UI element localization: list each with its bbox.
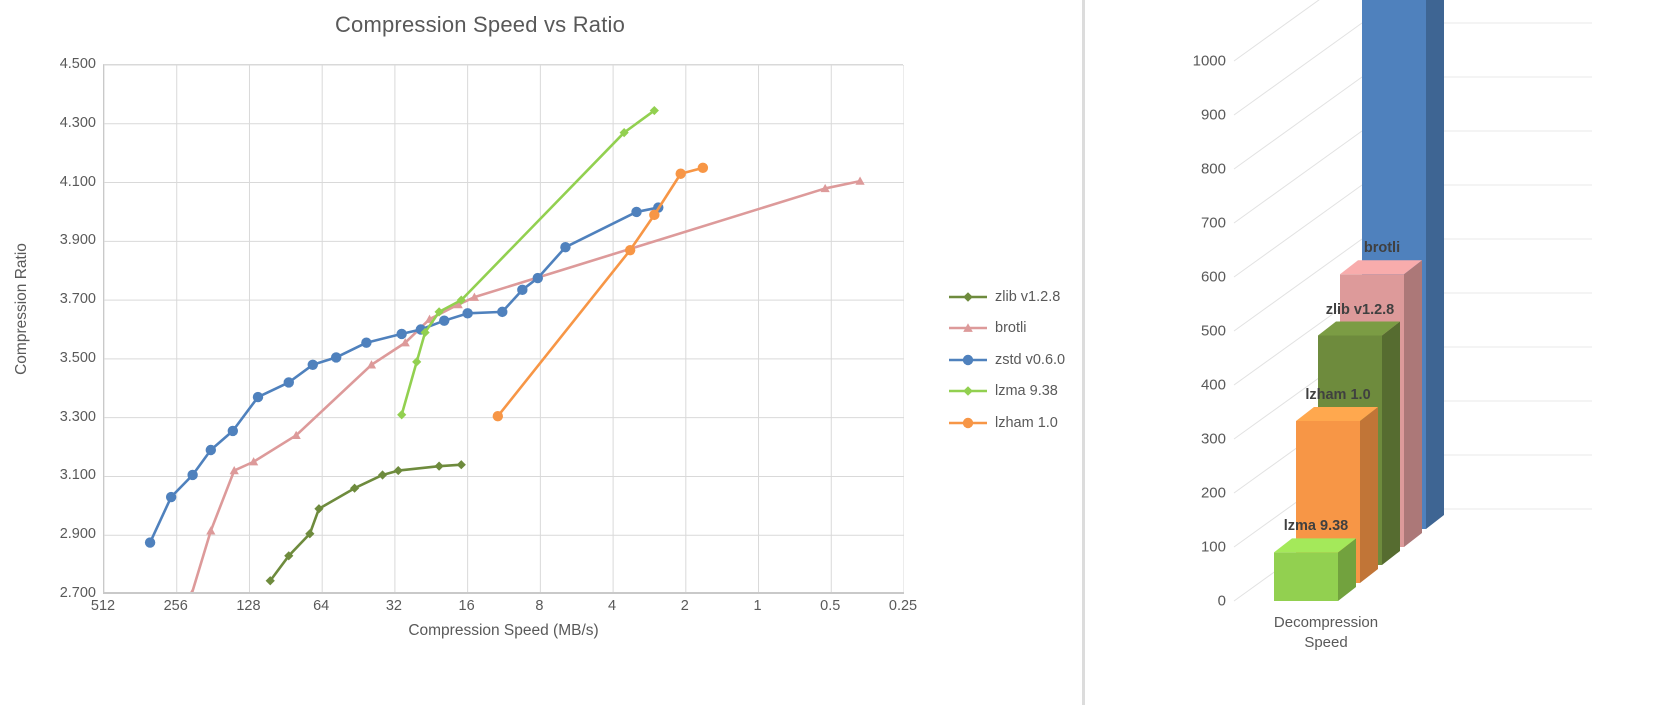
legend-item-lzham-1-0[interactable]: lzham 1.0 [948, 407, 1078, 439]
bar-y-axis-tick: 1000 [1156, 53, 1226, 70]
data-point-marker [675, 169, 685, 179]
data-point-marker [631, 207, 641, 217]
legend-marker-icon [948, 289, 988, 305]
series-zlib-v1-2-8 [266, 460, 466, 585]
bar-front-face [1274, 552, 1338, 601]
x-axis-tick: 16 [432, 598, 502, 614]
y-axis-tick: 4.300 [16, 115, 96, 131]
bar-y-axis-tick: 300 [1156, 431, 1226, 448]
data-point-marker [166, 492, 176, 502]
bar-data-label: zlib v1.2.8 [1326, 302, 1395, 318]
data-point-marker [145, 537, 155, 547]
x-axis-tick: 32 [359, 598, 429, 614]
panel-divider [1082, 0, 1085, 705]
bar-side-face [1426, 0, 1444, 529]
data-point-marker [963, 292, 973, 302]
chart-legend: zlib v1.2.8brotlizstd v0.6.0lzma 9.38lzh… [948, 281, 1078, 439]
data-point-marker [378, 470, 387, 479]
y-axis-tick: 3.100 [16, 467, 96, 483]
x-axis-tick: 256 [141, 598, 211, 614]
bar-y-axis-tick: 800 [1156, 161, 1226, 178]
x-axis-tick: 1 [723, 598, 793, 614]
gridline-depth [1234, 77, 1362, 169]
data-point-marker [439, 315, 449, 325]
data-point-marker [698, 163, 708, 173]
data-point-marker [206, 526, 215, 534]
bar-y-axis-tick: 200 [1156, 485, 1226, 502]
data-point-marker [560, 242, 570, 252]
gridline-depth [1234, 0, 1362, 61]
bar-y-axis-tick: 100 [1156, 539, 1226, 556]
bar-data-label: brotli [1364, 240, 1400, 256]
y-axis-title: Compression Ratio [13, 179, 31, 439]
series-line [402, 111, 655, 415]
data-point-marker [206, 445, 216, 455]
legend-item-lzma-9-38[interactable]: lzma 9.38 [948, 376, 1078, 408]
legend-marker-icon [948, 352, 988, 368]
y-axis-tick: 4.500 [16, 56, 96, 72]
bar-y-axis-tick: 600 [1156, 269, 1226, 286]
bar-side-face [1404, 260, 1422, 547]
data-point-marker [533, 273, 543, 283]
legend-item-zlib-v1-2-8[interactable]: zlib v1.2.8 [948, 281, 1078, 313]
bar-category-line: Decompression [1236, 613, 1416, 633]
bar-side-face [1360, 407, 1378, 583]
decompression-speed-bar-chart: DecompressionSpeed zstd v0.6.0brotlizlib… [1086, 0, 1670, 705]
x-axis-line [103, 592, 904, 594]
page-title: Compression Speed vs Ratio [0, 12, 960, 38]
data-point-marker [649, 210, 659, 220]
x-axis-tick: 512 [68, 598, 138, 614]
data-point-marker [457, 460, 466, 469]
data-point-marker [308, 360, 318, 370]
x-axis-title: Compression Speed (MB/s) [103, 622, 904, 640]
data-point-marker [435, 462, 444, 471]
x-axis-tick: 128 [213, 598, 283, 614]
legend-item-label: lzma 9.38 [995, 383, 1058, 399]
bar-category-line: Speed [1236, 633, 1416, 653]
plot-area [103, 64, 903, 593]
series-line [270, 465, 461, 581]
x-axis-tick-labels: 51225612864321684210.50.25 [0, 598, 1000, 624]
data-point-marker [493, 411, 503, 421]
bar-y-axis-tick: 400 [1156, 377, 1226, 394]
gridline-depth [1234, 185, 1362, 277]
data-point-marker [361, 338, 371, 348]
bar-data-label: lzma 9.38 [1284, 518, 1349, 534]
y-axis-tick: 2.900 [16, 526, 96, 542]
compression-scatter-chart: Compression Speed vs Ratio 4.5004.3004.1… [0, 0, 1082, 705]
data-point-marker [396, 329, 406, 339]
bar-category-label: DecompressionSpeed [1236, 613, 1416, 654]
data-point-marker [331, 352, 341, 362]
data-point-marker [187, 470, 197, 480]
data-point-marker [228, 426, 238, 436]
data-point-marker [284, 377, 294, 387]
x-axis-tick: 64 [286, 598, 356, 614]
data-point-marker [517, 285, 527, 295]
legend-marker-icon [948, 383, 988, 399]
x-axis-tick: 2 [650, 598, 720, 614]
x-axis-tick: 0.5 [795, 598, 865, 614]
data-point-marker [253, 392, 263, 402]
legend-marker-icon [948, 415, 988, 431]
bar-y-axis-tick: 500 [1156, 323, 1226, 340]
data-point-marker [963, 355, 973, 365]
data-point-marker [497, 307, 507, 317]
bar-y-axis-tick: 900 [1156, 107, 1226, 124]
data-point-marker [625, 245, 635, 255]
bar-y-axis-tick: 700 [1156, 215, 1226, 232]
legend-item-label: zstd v0.6.0 [995, 352, 1065, 368]
bar-lzma-9-38 [1274, 538, 1356, 601]
x-axis-tick: 4 [577, 598, 647, 614]
data-point-marker [963, 418, 973, 428]
legend-item-label: lzham 1.0 [995, 415, 1058, 431]
x-axis-tick: 8 [504, 598, 574, 614]
legend-marker-icon [948, 320, 988, 336]
scatter-plot-svg [104, 65, 904, 594]
legend-item-label: zlib v1.2.8 [995, 289, 1060, 305]
x-axis-tick: 0.25 [868, 598, 938, 614]
bar-y-axis-tick: 0 [1156, 593, 1226, 610]
gridline-depth [1234, 131, 1362, 223]
chart-screenshot: Compression Speed vs Ratio 4.5004.3004.1… [0, 0, 1670, 705]
data-point-marker [963, 386, 973, 396]
legend-item-label: brotli [995, 320, 1026, 336]
series-line [498, 168, 703, 416]
bar-side-face [1382, 322, 1400, 566]
series-zstd-v0-6-0 [145, 202, 664, 547]
legend-item-brotli[interactable]: brotli [948, 313, 1078, 345]
series-line [192, 181, 860, 594]
legend-item-zstd-v0-6-0[interactable]: zstd v0.6.0 [948, 344, 1078, 376]
data-point-marker [462, 308, 472, 318]
bar-data-label: lzham 1.0 [1305, 387, 1370, 403]
gridline-depth [1234, 23, 1362, 115]
